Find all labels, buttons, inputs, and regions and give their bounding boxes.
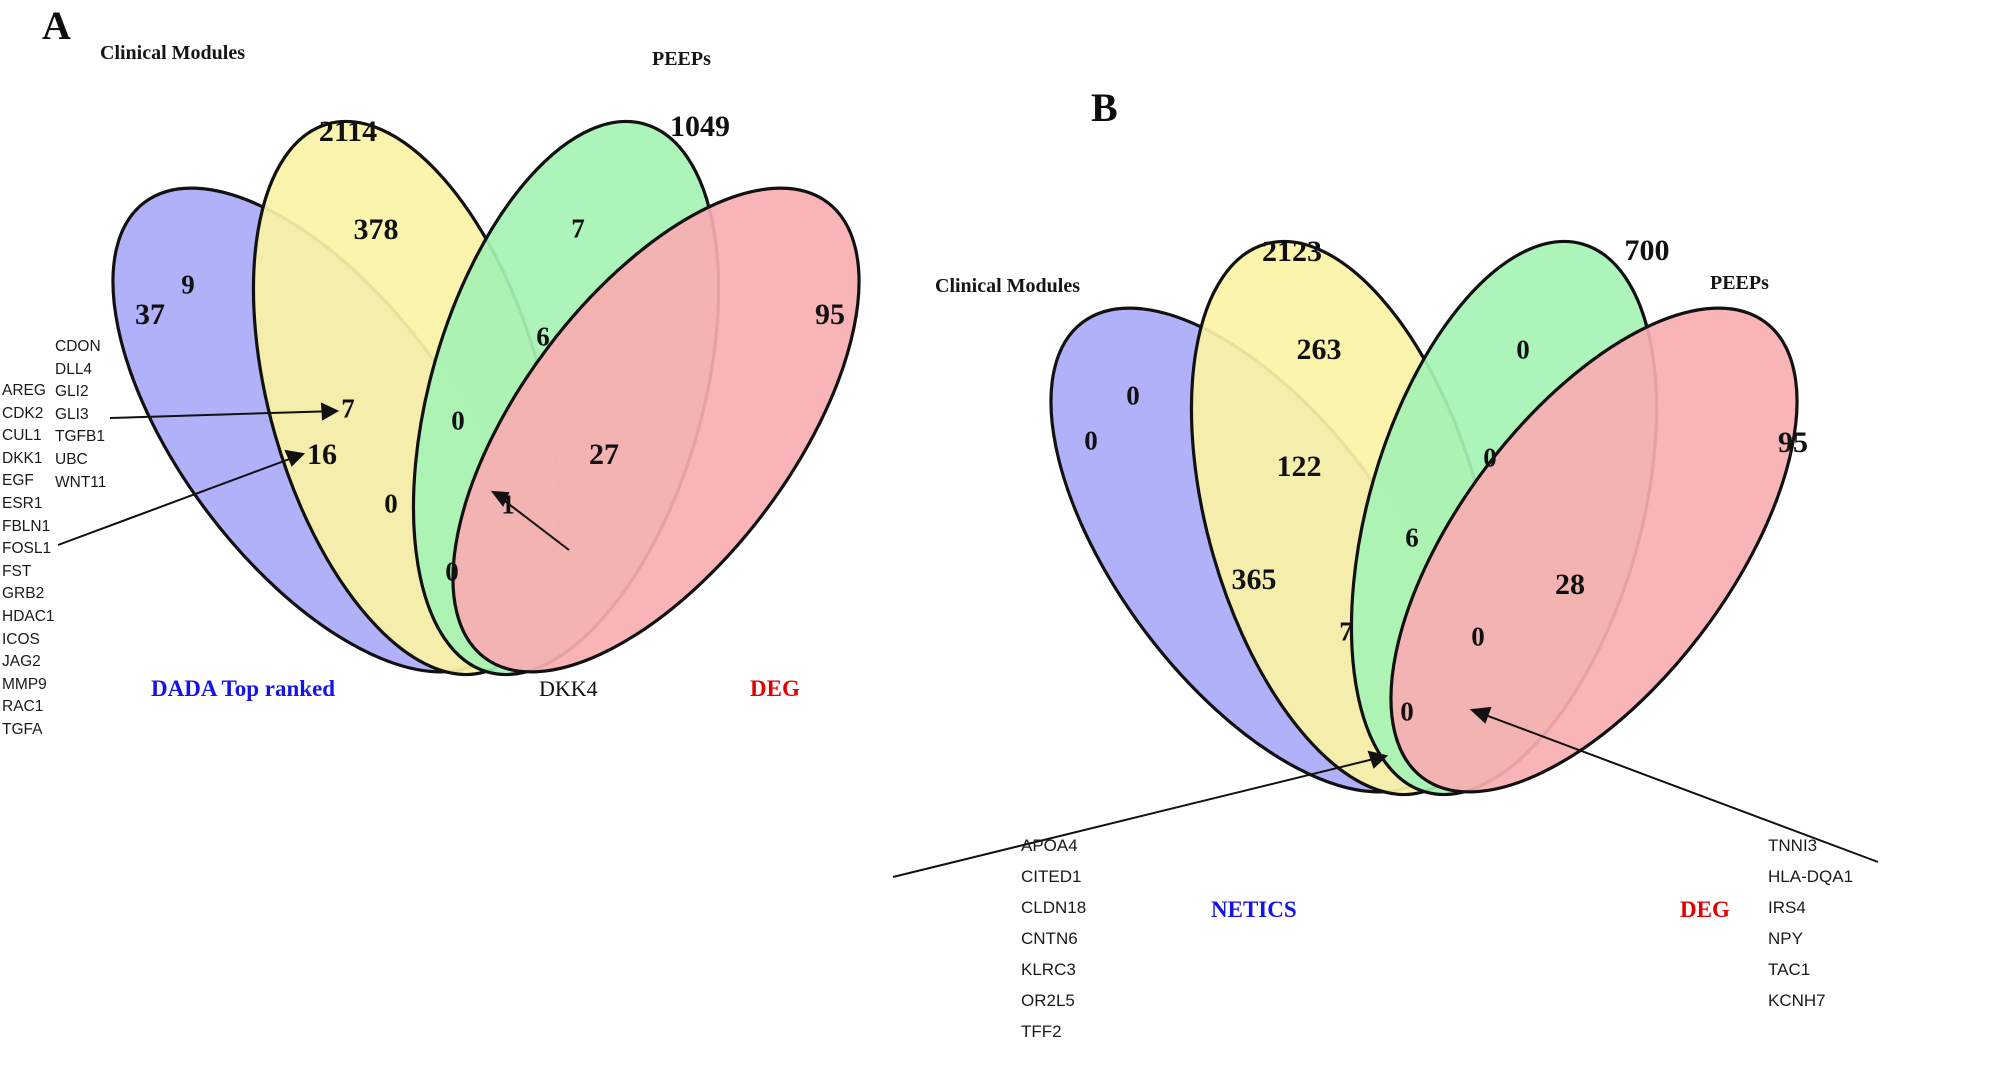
count-blue-yellow-b: 0 bbox=[1126, 381, 1140, 412]
count-green-pink-a: 7 bbox=[571, 214, 585, 245]
gene-label: UBC bbox=[55, 449, 106, 472]
count-green-pink-lower-b: 28 bbox=[1555, 568, 1585, 602]
gene-label: FOSL1 bbox=[2, 538, 55, 561]
gene-label: TFF2 bbox=[1021, 1016, 1086, 1047]
gene-label: CUL1 bbox=[2, 425, 55, 448]
gene-label: AREG bbox=[2, 380, 55, 403]
count-pink-lower-a: 1 bbox=[501, 490, 515, 521]
count-yellow-pink-b: 0 bbox=[1483, 443, 1497, 474]
gene-label: GRB2 bbox=[2, 583, 55, 606]
venn-svg-a bbox=[0, 0, 1003, 1072]
gene-label: TGFB1 bbox=[55, 426, 106, 449]
gene-label: OR2L5 bbox=[1021, 985, 1086, 1016]
count-blue-green-lower-b: 365 bbox=[1232, 563, 1277, 597]
count-green-only-a: 1049 bbox=[670, 110, 730, 144]
count-center-a: 0 bbox=[451, 406, 465, 437]
count-blue-yellow-a: 9 bbox=[181, 270, 195, 301]
set-label-deg-b: DEG bbox=[1680, 897, 1730, 923]
gene-label: FST bbox=[2, 561, 55, 584]
gene-label: MMP9 bbox=[2, 674, 55, 697]
gene-label: CDON bbox=[55, 336, 106, 359]
venn-svg-b bbox=[1003, 0, 2006, 1072]
gene-label: GLI3 bbox=[55, 404, 106, 427]
count-yellow-green-a: 378 bbox=[354, 213, 399, 247]
panel-b: B Clinical Modules PEEPs NETICS DEG 2123… bbox=[1003, 0, 2006, 1072]
gene-list-a-7: CDONDLL4GLI2GLI3TGFB1UBCWNT11 bbox=[55, 336, 106, 494]
gene-label: CITED1 bbox=[1021, 861, 1086, 892]
count-yellow-green-b: 263 bbox=[1297, 333, 1342, 367]
gene-label: RAC1 bbox=[2, 696, 55, 719]
gene-label: WNT11 bbox=[55, 472, 106, 495]
gene-label: DKK1 bbox=[2, 448, 55, 471]
gene-label: TAC1 bbox=[1768, 954, 1853, 985]
gene-list-b-7: APOA4CITED1CLDN18CNTN6KLRC3OR2L5TFF2 bbox=[1021, 830, 1086, 1047]
count-blue-yellow-lower-a: 0 bbox=[384, 489, 398, 520]
count-bottom-center-b: 0 bbox=[1400, 697, 1414, 728]
gene-label: HLA-DQA1 bbox=[1768, 861, 1853, 892]
gene-list-b-6: TNNI3HLA-DQA1IRS4NPYTAC1KCNH7 bbox=[1768, 830, 1853, 1016]
gene-label: GLI2 bbox=[55, 381, 106, 404]
set-label-peeps-a: PEEPs bbox=[652, 48, 711, 71]
gene-label: DLL4 bbox=[55, 359, 106, 382]
panel-a: A Clinical Modules PEEPs bbox=[0, 0, 1003, 1072]
count-yellow-only-a: 2114 bbox=[319, 115, 377, 149]
count-bottom-center-a: 0 bbox=[445, 557, 459, 588]
count-blue-yellow-lower-b: 7 bbox=[1339, 617, 1353, 648]
gene-label: KLRC3 bbox=[1021, 954, 1086, 985]
gene-label: ESR1 bbox=[2, 493, 55, 516]
gene-label: KCNH7 bbox=[1768, 985, 1853, 1016]
count-green-pink-lower-a: 27 bbox=[589, 438, 619, 472]
gene-label: CNTN6 bbox=[1021, 923, 1086, 954]
count-pink-only-b: 95 bbox=[1778, 426, 1808, 460]
count-yellow-only-b: 2123 bbox=[1262, 235, 1322, 269]
set-label-clinical-modules-b: Clinical Modules bbox=[935, 275, 1080, 298]
set-label-clinical-modules-a: Clinical Modules bbox=[100, 42, 245, 65]
gene-label: EGF bbox=[2, 470, 55, 493]
count-pink-only-a: 95 bbox=[815, 298, 845, 332]
gene-label: CDK2 bbox=[2, 403, 55, 426]
count-blue-only-a: 37 bbox=[135, 298, 165, 332]
gene-label: TGFA bbox=[2, 719, 55, 742]
set-label-dada-top-ranked: DADA Top ranked bbox=[151, 676, 335, 702]
count-blue-only-b: 0 bbox=[1084, 426, 1098, 457]
count-green-pink-b: 0 bbox=[1516, 335, 1530, 366]
gene-label: APOA4 bbox=[1021, 830, 1086, 861]
count-green-only-b: 700 bbox=[1625, 234, 1670, 268]
gene-label: HDAC1 bbox=[2, 606, 55, 629]
set-label-deg-a: DEG bbox=[750, 676, 800, 702]
set-label-peeps-b: PEEPs bbox=[1710, 272, 1769, 295]
count-blue-green-lower-a: 16 bbox=[307, 438, 337, 472]
gene-label: IRS4 bbox=[1768, 892, 1853, 923]
set-label-netics: NETICS bbox=[1211, 897, 1297, 923]
gene-label: FBLN1 bbox=[2, 516, 55, 539]
gene-list-a-16: AREGCDK2CUL1DKK1EGFESR1FBLN1FOSL1FSTGRB2… bbox=[2, 380, 55, 742]
gene-label: ICOS bbox=[2, 629, 55, 652]
count-pink-lower-b: 0 bbox=[1471, 622, 1485, 653]
gene-label: CLDN18 bbox=[1021, 892, 1086, 923]
count-yellow-pink-a: 6 bbox=[536, 322, 550, 353]
label-dkk4: DKK4 bbox=[539, 676, 598, 702]
gene-label: TNNI3 bbox=[1768, 830, 1853, 861]
gene-label: NPY bbox=[1768, 923, 1853, 954]
count-blue-green-arrowed-b: 122 bbox=[1277, 450, 1322, 484]
count-center-b: 6 bbox=[1405, 523, 1419, 554]
count-blue-green-arrowed-a: 7 bbox=[341, 394, 355, 425]
gene-label: JAG2 bbox=[2, 651, 55, 674]
